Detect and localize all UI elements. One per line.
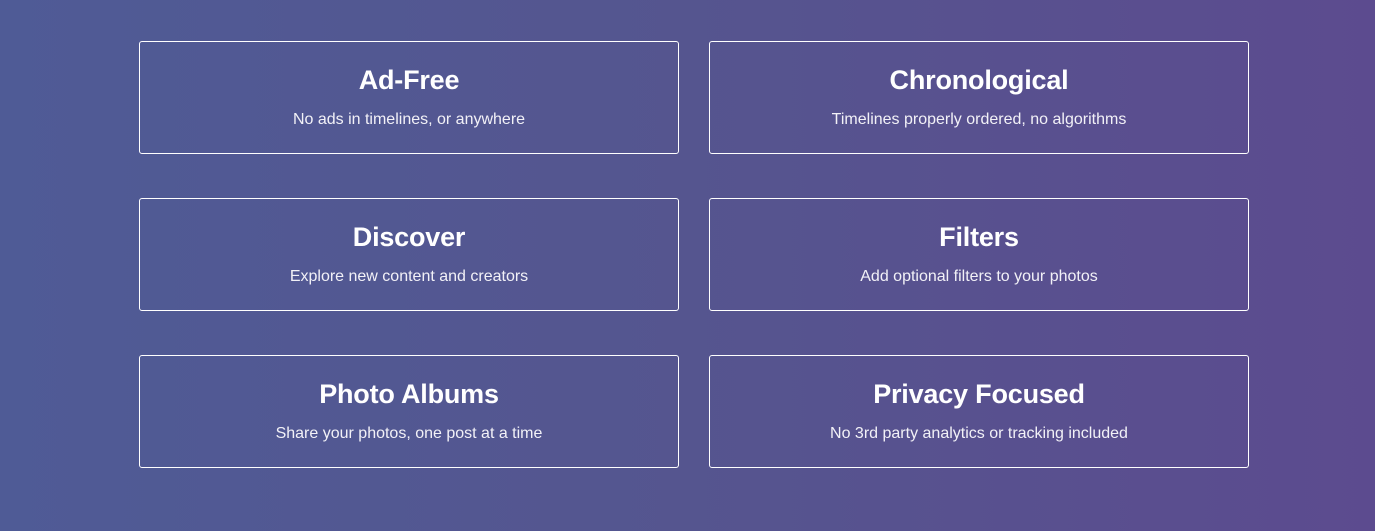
feature-title: Chronological (890, 67, 1069, 94)
feature-card-ad-free[interactable]: Ad-Free No ads in timelines, or anywhere (139, 41, 679, 154)
feature-card-discover[interactable]: Discover Explore new content and creator… (139, 198, 679, 311)
feature-card-photo-albums[interactable]: Photo Albums Share your photos, one post… (139, 355, 679, 468)
feature-title: Discover (353, 224, 465, 251)
feature-subtitle: No ads in timelines, or anywhere (293, 112, 525, 128)
feature-card-chronological[interactable]: Chronological Timelines properly ordered… (709, 41, 1249, 154)
feature-subtitle: Add optional filters to your photos (860, 269, 1097, 285)
feature-card-privacy-focused[interactable]: Privacy Focused No 3rd party analytics o… (709, 355, 1249, 468)
feature-subtitle: No 3rd party analytics or tracking inclu… (830, 426, 1128, 442)
feature-subtitle: Timelines properly ordered, no algorithm… (832, 112, 1127, 128)
feature-title: Ad-Free (359, 67, 460, 94)
feature-title: Photo Albums (319, 381, 499, 408)
feature-subtitle: Share your photos, one post at a time (276, 426, 543, 442)
feature-subtitle: Explore new content and creators (290, 269, 528, 285)
feature-card-filters[interactable]: Filters Add optional filters to your pho… (709, 198, 1249, 311)
feature-grid: Ad-Free No ads in timelines, or anywhere… (139, 41, 1249, 468)
feature-title: Privacy Focused (873, 381, 1085, 408)
feature-title: Filters (939, 224, 1019, 251)
